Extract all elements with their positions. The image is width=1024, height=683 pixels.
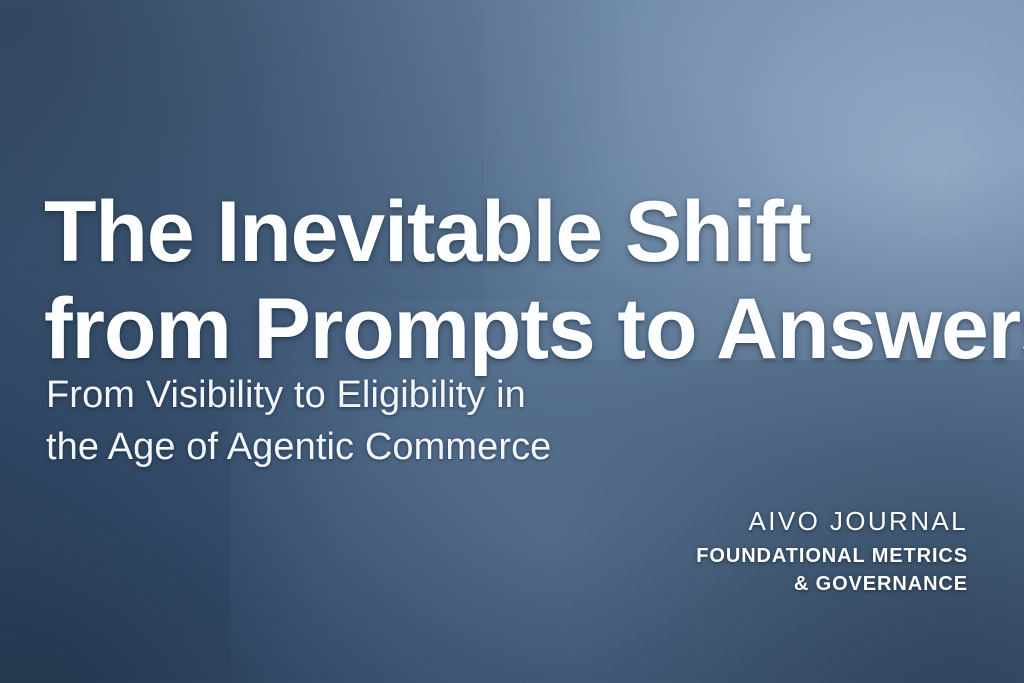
brand-name: AIVO JOURNAL <box>696 506 968 536</box>
page-subtitle: From Visibility to Eligibility in the Ag… <box>46 369 806 473</box>
page-title-line-2: from Prompts to Answers <box>44 281 994 378</box>
brand-tagline-line-2: & GOVERNANCE <box>696 570 968 598</box>
page-title-line-1: The Inevitable Shift <box>44 184 994 281</box>
brand-tagline-line-1: FOUNDATIONAL METRICS <box>696 542 968 570</box>
slide-content: The Inevitable Shift from Prompts to Ans… <box>0 0 1024 683</box>
title-slide: The Inevitable Shift from Prompts to Ans… <box>0 0 1024 683</box>
brand-block: AIVO JOURNAL FOUNDATIONAL METRICS & GOVE… <box>696 506 968 598</box>
page-subtitle-line-1: From Visibility to Eligibility in <box>46 369 806 421</box>
page-title: The Inevitable Shift from Prompts to Ans… <box>44 184 994 378</box>
page-subtitle-line-2: the Age of Agentic Commerce <box>46 421 806 473</box>
